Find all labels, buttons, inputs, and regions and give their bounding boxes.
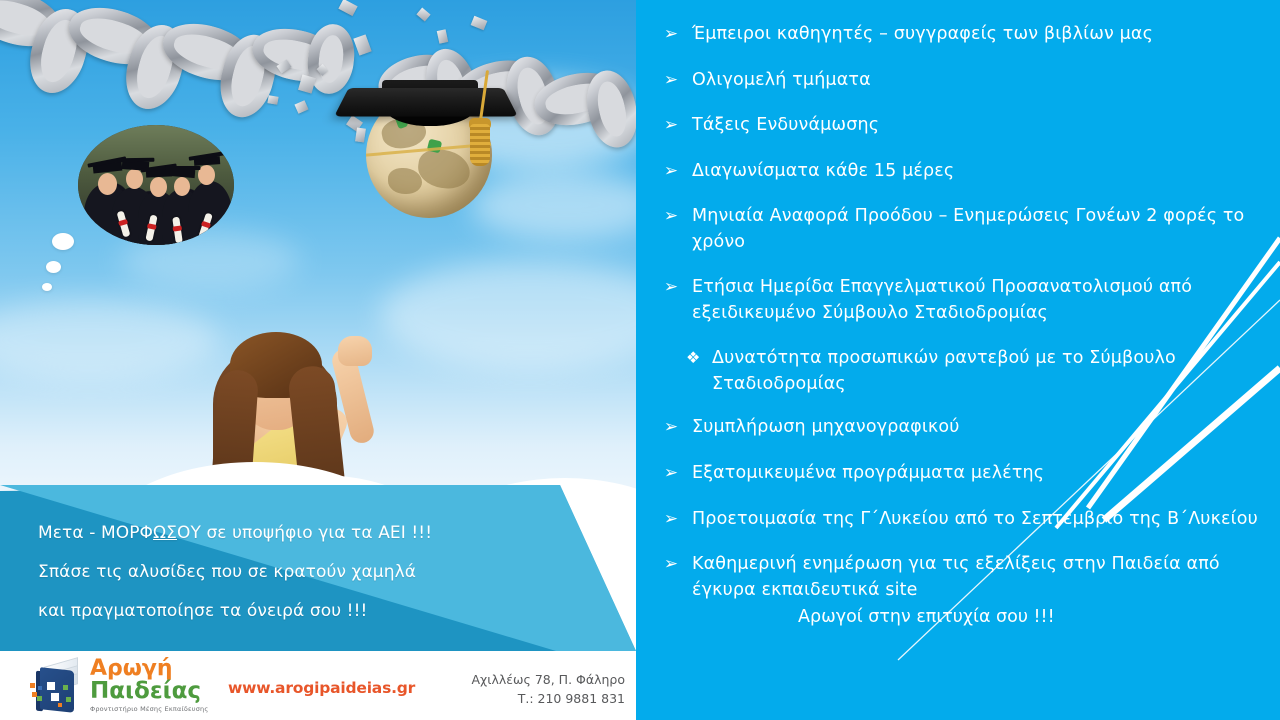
list-item[interactable]: ➢ Ολιγομελή τμήματα [650, 68, 1262, 94]
list-item-label: Ετήσια Ημερίδα Επαγγελματικού Προσανατολ… [692, 275, 1262, 326]
feature-list: ➢ Έμπειροι καθηγητές – συγγραφείς των βι… [636, 0, 1280, 631]
arrow-bullet-icon: ➢ [650, 159, 692, 184]
list-item[interactable]: ➢ Τάξεις Ενδυνάμωσης [650, 113, 1262, 139]
arrow-bullet-icon: ➢ [650, 113, 692, 138]
slogan-line-1: Μετα - ΜΟΡΦΩΣΟΥ σε υποψήφιο για τα ΑΕΙ !… [38, 517, 558, 550]
features-panel: ➢ Έμπειροι καθηγητές – συγγραφείς των βι… [636, 0, 1280, 720]
list-item[interactable]: ➢ Έμπειροι καθηγητές – συγγραφείς των βι… [650, 22, 1262, 48]
list-item-label: Διαγωνίσματα κάθε 15 μέρες [692, 159, 954, 185]
slogan-text-block: Μετα - ΜΟΡΦΩΣΟΥ σε υποψήφιο για τα ΑΕΙ !… [38, 517, 558, 634]
arrow-bullet-icon: ➢ [650, 415, 692, 440]
list-item[interactable]: ➢ Καθημερινή ενημέρωση για τις εξελίξεις… [650, 552, 1262, 603]
list-item-label: Καθημερινή ενημέρωση για τις εξελίξεις σ… [692, 552, 1262, 603]
list-item[interactable]: ➢ Συμπλήρωση μηχανογραφικού [650, 415, 1262, 441]
list-item[interactable]: ➢ Προετοιμασία της Γ΄Λυκείου από το Σεπτ… [650, 507, 1262, 533]
slogan-line-2: Σπάσε τις αλυσίδες που σε κρατούν χαμηλά [38, 556, 558, 589]
arogi-paideias-logo[interactable]: Αρωγή Παιδείας Φροντιστήριο Μέσης Εκπαίδ… [30, 657, 220, 715]
website-link[interactable]: www.arogipaideias.gr [228, 679, 415, 697]
slide-root: Μετα - ΜΟΡΦΩΣΟΥ σε υποψήφιο για τα ΑΕΙ !… [0, 0, 1280, 720]
diamond-bullet-icon: ❖ [686, 346, 712, 369]
list-item[interactable]: ➢ Ετήσια Ημερίδα Επαγγελματικού Προσανατ… [650, 275, 1262, 326]
list-item-label: Ολιγομελή τμήματα [692, 68, 871, 94]
list-item-label: Δυνατότητα προσωπικών ραντεβού με το Σύμ… [712, 346, 1262, 397]
arrow-bullet-icon: ➢ [650, 552, 692, 577]
globe-with-cap-graphic [342, 18, 542, 228]
list-item-label: Έμπειροι καθηγητές – συγγραφείς των βιβλ… [692, 22, 1153, 48]
arrow-bullet-icon: ➢ [650, 68, 692, 93]
thought-bubble-graduates [78, 125, 238, 245]
list-item-sub[interactable]: ❖ Δυνατότητα προσωπικών ραντεβού με το Σ… [686, 346, 1262, 397]
footer-bar: Αρωγή Παιδείας Φροντιστήριο Μέσης Εκπαίδ… [0, 651, 636, 720]
list-item[interactable]: ➢ Διαγωνίσματα κάθε 15 μέρες [650, 159, 1262, 185]
arrow-bullet-icon: ➢ [650, 275, 692, 300]
closing-statement: Αρωγοί στην επιτυχία σου !!! [798, 605, 1262, 631]
list-item-label: Προετοιμασία της Γ΄Λυκείου από το Σεπτέμ… [692, 507, 1258, 533]
logo-line-paideias: Παιδείας [90, 680, 208, 703]
list-item-label: Τάξεις Ενδυνάμωσης [692, 113, 879, 139]
arrow-bullet-icon: ➢ [650, 22, 692, 47]
left-image-panel: Μετα - ΜΟΡΦΩΣΟΥ σε υποψήφιο για τα ΑΕΙ !… [0, 0, 636, 720]
phone-line: Τ.: 210 9881 831 [440, 690, 625, 709]
contact-info: Αχιλλέως 78, Π. Φάληρο Τ.: 210 9881 831 [440, 671, 625, 709]
book-icon [30, 661, 82, 711]
arrow-bullet-icon: ➢ [650, 507, 692, 532]
logo-line-arogi: Αρωγή [90, 658, 208, 680]
list-item-label: Μηνιαία Αναφορά Προόδου – Ενημερώσεις Γο… [692, 204, 1262, 255]
list-item[interactable]: ➢ Εξατομικευμένα προγράμματα μελέτης [650, 461, 1262, 487]
logo-tagline: Φροντιστήριο Μέσης Εκπαίδευσης [90, 704, 208, 714]
slogan-line-3: και πραγματοποίησε τα όνειρά σου !!! [38, 595, 558, 628]
arrow-bullet-icon: ➢ [650, 461, 692, 486]
arrow-bullet-icon: ➢ [650, 204, 692, 229]
slogan-banner: Μετα - ΜΟΡΦΩΣΟΥ σε υποψήφιο για τα ΑΕΙ !… [0, 479, 636, 651]
list-item[interactable]: ➢ Μηνιαία Αναφορά Προόδου – Ενημερώσεις … [650, 204, 1262, 255]
list-item-label: Εξατομικευμένα προγράμματα μελέτης [692, 461, 1044, 487]
list-item-label: Συμπλήρωση μηχανογραφικού [692, 415, 960, 441]
address-line: Αχιλλέως 78, Π. Φάληρο [440, 671, 625, 690]
